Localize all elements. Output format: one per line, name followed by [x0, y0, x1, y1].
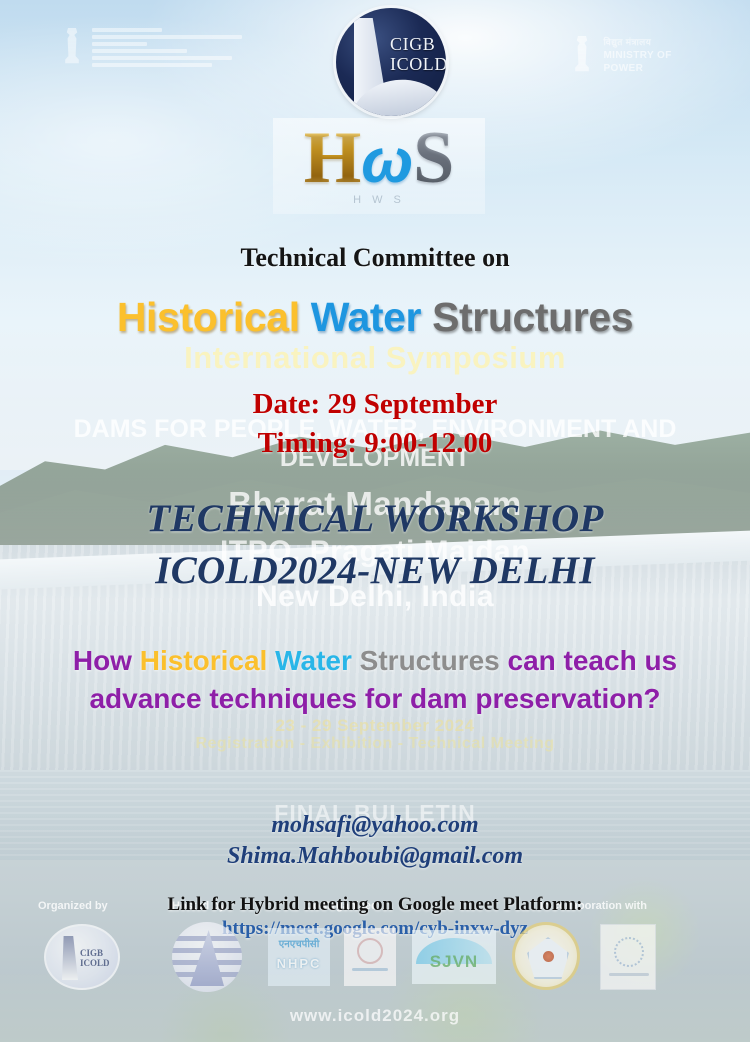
contact-emails: mohsafi@yahoo.com Shima.Mahboubi@gmail.c… — [0, 810, 750, 872]
icold-logo-line1: CIGB — [390, 34, 446, 54]
partner-ring-icon — [614, 937, 644, 967]
workshop-heading: TECHNICAL WORKSHOP ICOLD2024-NEW DELHI — [0, 493, 750, 597]
meeting-label: Link for Hybrid meeting on Google meet P… — [0, 894, 750, 916]
ashoka-pillar-icon-right — [572, 36, 592, 80]
hws-letter-s: S — [413, 117, 454, 199]
seal-center-dot-icon — [543, 951, 554, 962]
page-title: Historical Water Structures — [0, 294, 750, 341]
watermark-theme: Registration - Exhibition - Technical Me… — [0, 735, 750, 753]
question-word-historical: Historical — [140, 645, 268, 676]
sjvn-abbr-label: SJVN — [412, 952, 496, 972]
icold-logo-line2: ICOLD — [390, 54, 446, 74]
ministry-of-power-emblem: विद्युत मंत्रालय MINISTRY OF POWER — [572, 36, 722, 98]
partner-sjvn-logo: SJVN — [412, 930, 496, 984]
partner-nhpc-circle-logo — [172, 922, 242, 992]
ministry-line1: MINISTRY OF — [603, 50, 671, 61]
email-secondary[interactable]: Shima.Mahboubi@gmail.com — [0, 841, 750, 872]
icold-blade-icon — [62, 936, 78, 980]
timing-line: Timing: 9:00-12.00 — [0, 424, 750, 463]
workshop-line-2: ICOLD2024-NEW DELHI — [0, 545, 750, 597]
watermark-website: www.icold2024.org — [0, 1006, 750, 1026]
watermark-symposium: International Symposium — [0, 340, 750, 376]
watermark-dates: 23 - 29 September 2024 — [0, 716, 750, 736]
title-word-water: Water — [311, 294, 421, 340]
title-word-structures: Structures — [432, 294, 633, 340]
conference-poster: International Symposium DAMS FOR PEOPLE,… — [0, 0, 750, 1042]
ministry-of-power-text: विद्युत मंत्रालय MINISTRY OF POWER — [603, 36, 671, 75]
partner-icold-logo: CIGB ICOLD — [44, 924, 120, 990]
workshop-line-1: TECHNICAL WORKSHOP — [0, 493, 750, 545]
ministry-line2: POWER — [603, 63, 643, 74]
date-line: Date: 29 September — [0, 385, 750, 424]
government-of-india-emblem — [62, 28, 302, 98]
hws-letter-w-wave-icon: ω — [361, 127, 413, 196]
partner-logo-strip: CIGB ICOLD एनएचपीसी NHPC SJVN — [0, 922, 750, 994]
workshop-question: How Historical Water Structures can teac… — [0, 642, 750, 718]
question-word-how: How — [73, 645, 132, 676]
nhpc-hindi-label: एनएचपीसी — [268, 936, 330, 950]
partner-cwc-logo — [344, 928, 396, 986]
cigb-icold-logo: CIGB ICOLD — [336, 8, 446, 116]
cwc-ring-icon — [357, 938, 383, 964]
partner-nhpc-logo: एनएचपीसी NHPC — [268, 928, 330, 986]
nhpc-abbr-label: NHPC — [268, 956, 330, 971]
question-word-water: Water — [275, 645, 352, 676]
email-primary[interactable]: mohsafi@yahoo.com — [0, 810, 750, 841]
cwc-wave-icon — [352, 968, 388, 971]
hws-logo-letters: HωS — [273, 118, 485, 202]
committee-prefix: Technical Committee on — [0, 243, 750, 273]
emblem-text-lines — [92, 28, 242, 70]
icold-logo-text: CIGB ICOLD — [390, 34, 446, 74]
question-word-structures: Structures — [360, 645, 500, 676]
hws-logo: HωS H W S — [273, 118, 485, 214]
date-time-block: Date: 29 September Timing: 9:00-12.00 — [0, 385, 750, 463]
ashoka-pillar-icon — [62, 28, 82, 72]
partner-logo-right — [600, 924, 656, 990]
partner-seal-logo — [512, 922, 580, 990]
partner-wave-icon — [609, 973, 649, 976]
hws-letter-h: H — [304, 117, 362, 199]
partner-icold-label: CIGB ICOLD — [80, 948, 118, 968]
ministry-hindi-label: विद्युत मंत्रालय — [603, 37, 651, 47]
title-word-historical: Historical — [117, 294, 300, 340]
